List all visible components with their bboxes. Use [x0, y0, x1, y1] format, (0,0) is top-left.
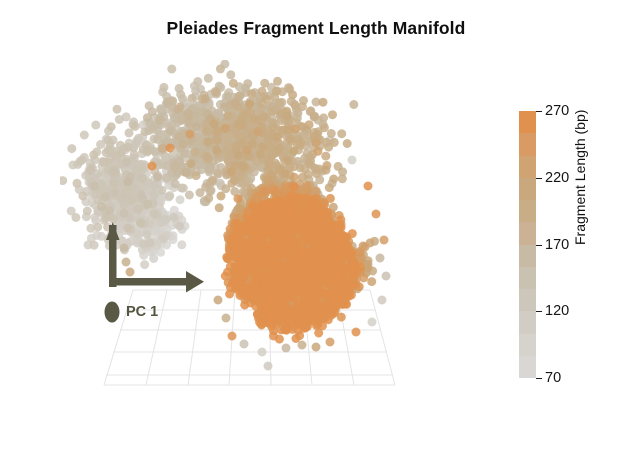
colorbar-band	[519, 267, 536, 289]
colorbar-band	[519, 334, 536, 356]
colorbar-tick	[536, 178, 542, 179]
axis-label-pc1: PC 1	[126, 304, 158, 320]
colorbar-band	[519, 178, 536, 200]
colorbar-band	[519, 133, 536, 155]
colorbar-tick-label: 120	[545, 303, 569, 319]
colorbar-tick-label: 220	[545, 170, 569, 186]
colorbar-tick	[536, 245, 542, 246]
colorbar-tick-label: 70	[545, 370, 561, 386]
scatter-points	[51, 60, 391, 371]
colorbar-axis-label: Fragment Length (bp)	[572, 110, 588, 245]
colorbar-band	[519, 289, 536, 311]
colorbar-tick-label: 170	[545, 237, 569, 253]
colorbar-tick	[536, 378, 542, 379]
scatter-plot-3d[interactable]	[0, 0, 632, 470]
colorbar-band	[519, 245, 536, 267]
colorbar-tick-label: 270	[545, 103, 569, 119]
colorbar-band	[519, 111, 536, 133]
colorbar-band	[519, 222, 536, 244]
colorbar-tick	[536, 311, 542, 312]
colorbar-tick	[536, 111, 542, 112]
colorbar[interactable]: 27022017012070	[519, 111, 536, 378]
figure-canvas: Pleiades Fragment Length Manifold	[0, 0, 632, 470]
colorbar-band	[519, 356, 536, 378]
colorbar-band	[519, 200, 536, 222]
colorbar-band	[519, 156, 536, 178]
colorbar-band	[519, 311, 536, 333]
